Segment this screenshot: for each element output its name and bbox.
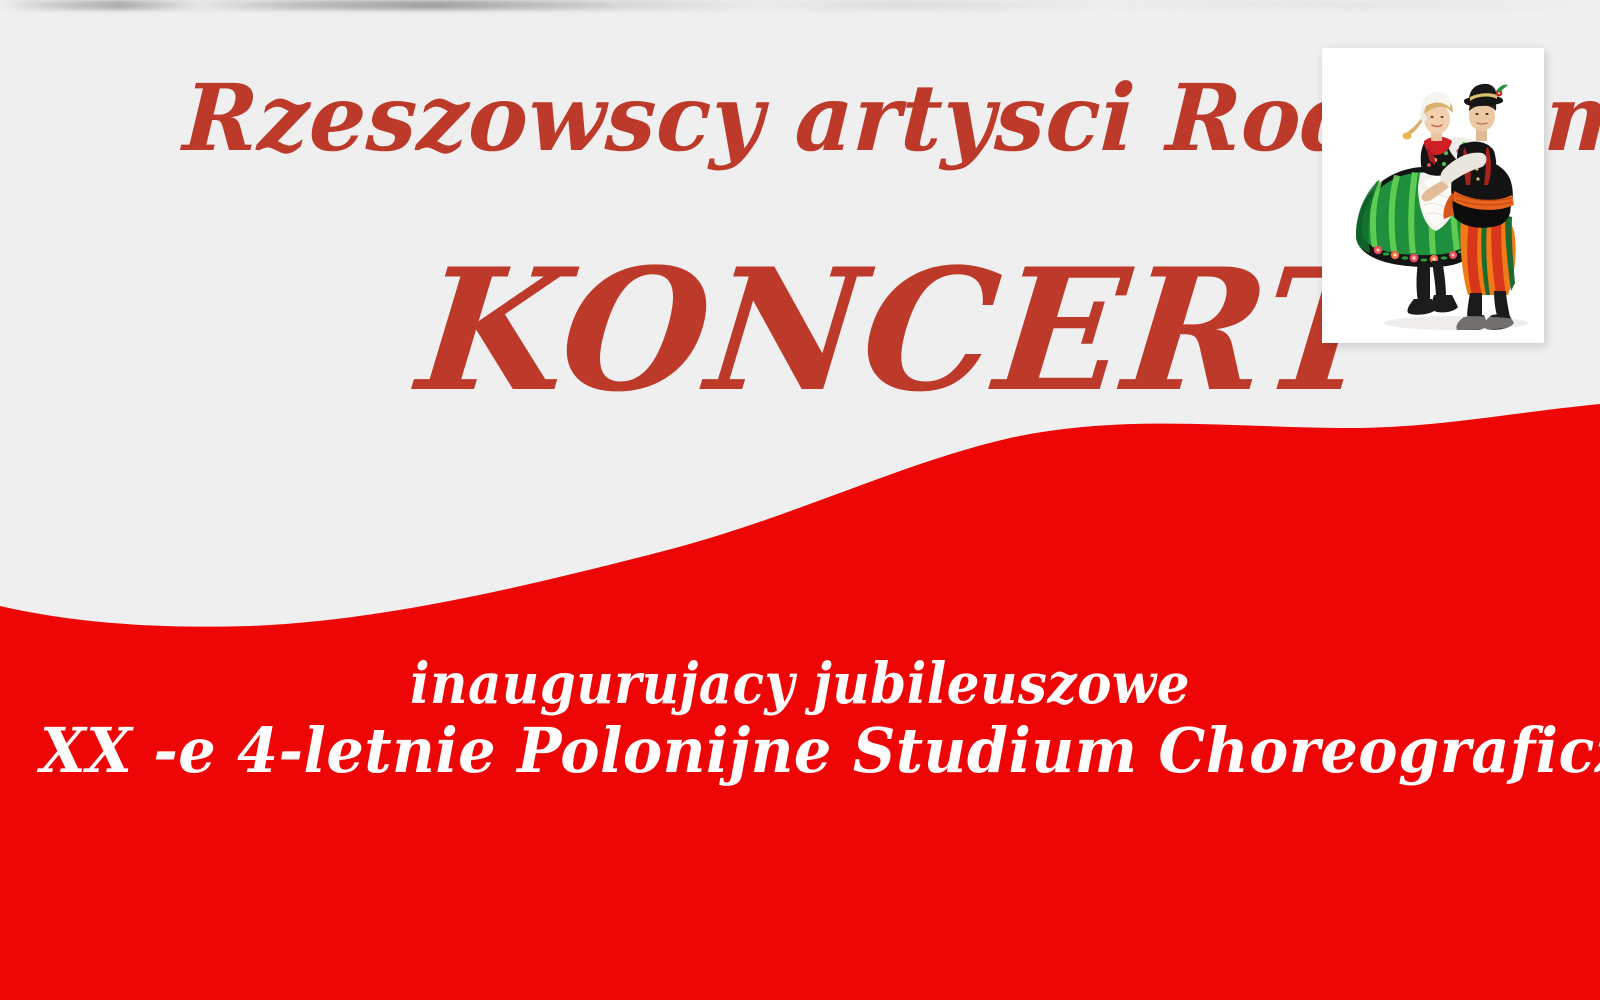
scan-artifact-smudge (0, 0, 1600, 10)
photo-mat (1336, 61, 1530, 330)
subtitle-line-1: inaugurujacy jubileuszowe (64, 651, 1536, 717)
photo-frame (1322, 48, 1544, 343)
main-headline-koncert: KONCERT (412, 246, 1398, 414)
subtitle-line-2: XX -e 4-letnie Polonijne Studium Choreog… (40, 714, 1560, 787)
poster-canvas: Rzeszowscy artysci Rodakom KONCERT inaug… (0, 0, 1600, 1000)
polish-folk-dancers-photo (1336, 61, 1530, 330)
